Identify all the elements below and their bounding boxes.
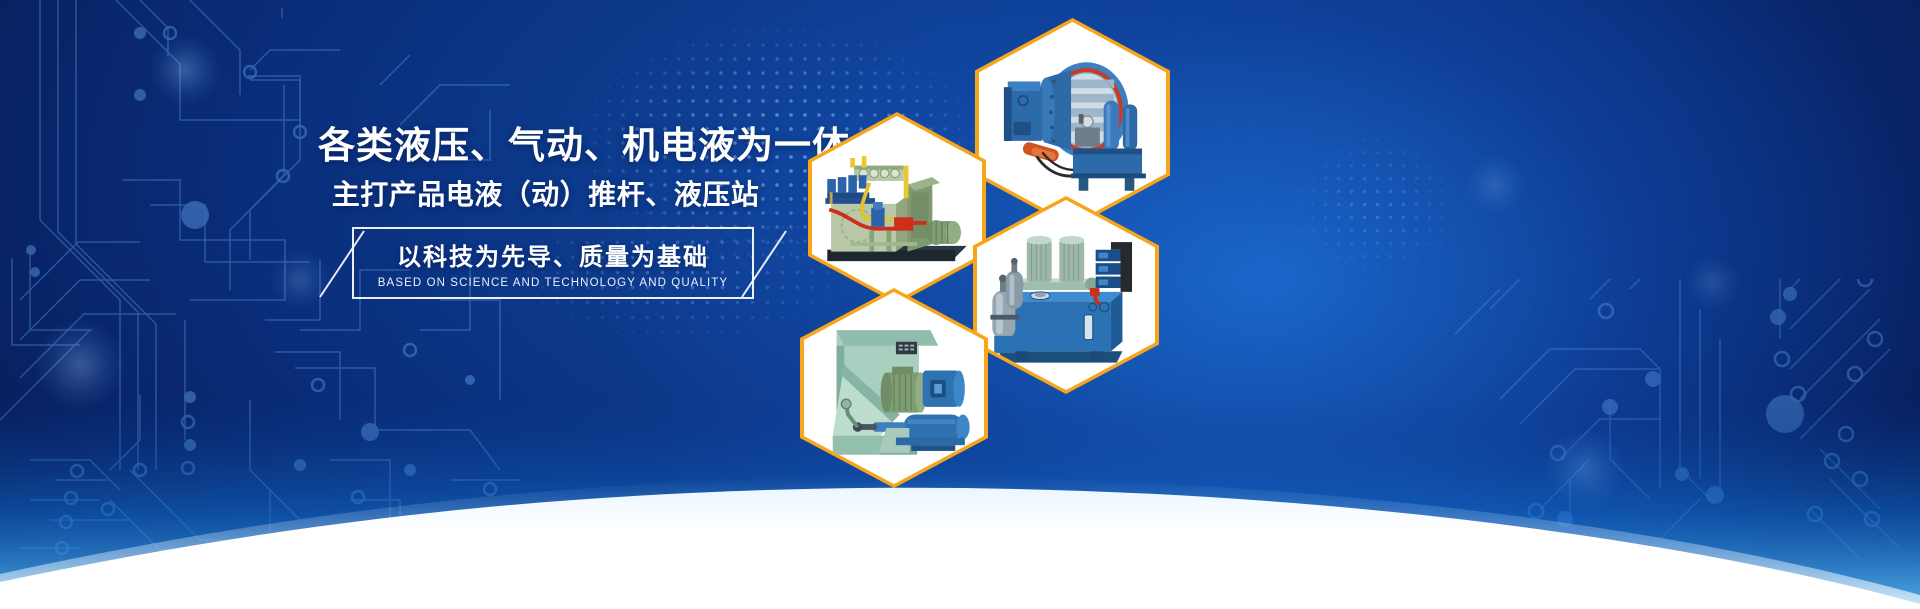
- hexagon-power-unit[interactable]: [973, 196, 1159, 394]
- power-unit-image: [977, 200, 1155, 389]
- glow-spot-2: [35, 320, 125, 410]
- glow-spot-5: [1465, 155, 1525, 215]
- halftone-dots-right: [1280, 120, 1470, 290]
- circuit-pattern-right: [1360, 279, 1920, 609]
- hexagon-inner-frame: [979, 22, 1166, 224]
- hero-banner: 各类液压、气动、机电液为一体 主打产品电液（动）推杆、液压站 以科技为先导、质量…: [0, 0, 1920, 609]
- slogan-english: BASED ON SCIENCE AND TECHNOLOGY AND QUAL…: [378, 277, 728, 289]
- glow-spot-4: [1545, 430, 1625, 510]
- headline-secondary: 主打产品电液（动）推杆、液压站: [318, 178, 773, 212]
- glow-spot-6: [1685, 255, 1740, 310]
- banner-text-block: 各类液压、气动、机电液为一体 主打产品电液（动）推杆、液压站 以科技为先导、质量…: [318, 124, 788, 299]
- hexagon-butterfly-valve[interactable]: [975, 18, 1170, 228]
- hexagon-inner-frame: [977, 200, 1155, 390]
- diagonal-streaks: [0, 0, 300, 150]
- butterfly-valve-image: [979, 22, 1166, 223]
- slogan-chinese: 以科技为先导、质量为基础: [397, 237, 709, 272]
- slogan-block: 以科技为先导、质量为基础 BASED ON SCIENCE AND TECHNO…: [318, 227, 788, 299]
- headline-primary: 各类液压、气动、机电液为一体: [318, 124, 788, 168]
- glow-spot-1: [150, 35, 220, 105]
- slogan-box: 以科技为先导、质量为基础 BASED ON SCIENCE AND TECHNO…: [352, 227, 754, 299]
